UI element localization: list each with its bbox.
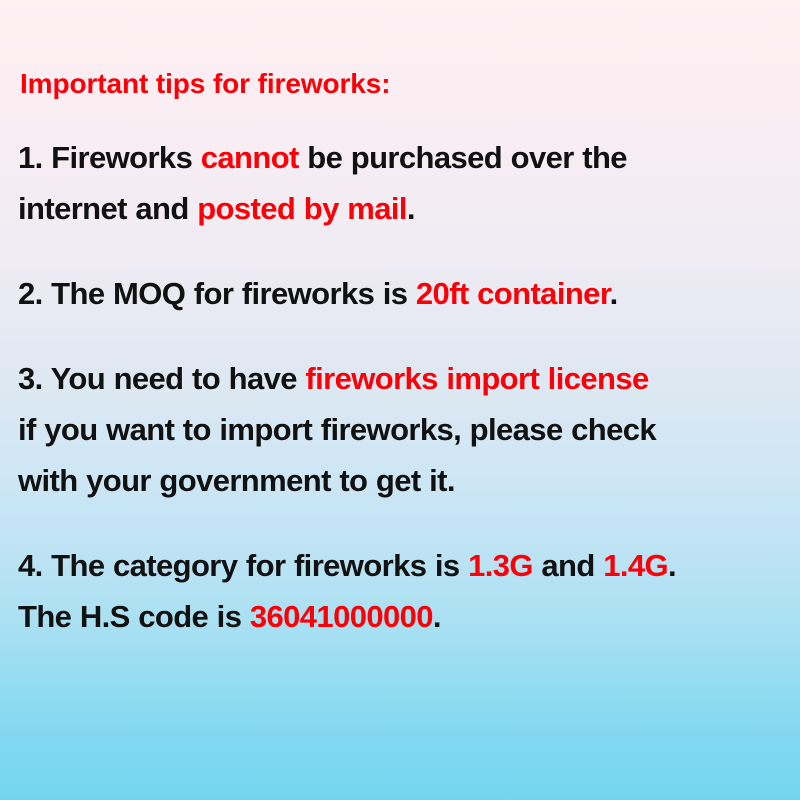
tip-text: . xyxy=(407,191,415,226)
tip-line: The H.S code is 36041000000. xyxy=(18,591,780,642)
tip-text: The H.S code is xyxy=(18,599,250,634)
tip-text: . xyxy=(433,599,441,634)
tip-text: with your government to get it. xyxy=(18,463,455,498)
tip-text: 2. The MOQ for fireworks is xyxy=(18,276,416,311)
tip-item: 1. Fireworks cannot be purchased over th… xyxy=(18,132,780,234)
tip-text: and xyxy=(533,548,603,583)
tip-text: if you want to import fireworks, please … xyxy=(18,412,656,447)
tip-line: with your government to get it. xyxy=(18,455,780,506)
highlighted-text: posted by mail xyxy=(197,191,407,226)
highlighted-text: 36041000000 xyxy=(250,599,433,634)
tip-text: 3. You need to have xyxy=(18,361,305,396)
tip-line: if you want to import fireworks, please … xyxy=(18,404,780,455)
tips-list: 1. Fireworks cannot be purchased over th… xyxy=(18,132,780,642)
tip-line: 4. The category for fireworks is 1.3G an… xyxy=(18,540,780,591)
tip-text: . xyxy=(610,276,618,311)
tip-text: . xyxy=(668,548,676,583)
highlighted-text: 1.4G xyxy=(603,548,668,583)
fireworks-tips-card: Important tips for fireworks: 1. Firewor… xyxy=(0,0,800,800)
tip-text: be purchased over the xyxy=(299,140,627,175)
tip-line: internet and posted by mail. xyxy=(18,183,780,234)
tip-text: internet and xyxy=(18,191,197,226)
tip-line: 1. Fireworks cannot be purchased over th… xyxy=(18,132,780,183)
highlighted-text: fireworks import license xyxy=(305,361,648,396)
tip-text: 1. Fireworks xyxy=(18,140,201,175)
tip-item: 2. The MOQ for fireworks is 20ft contain… xyxy=(18,268,780,319)
tip-line: 3. You need to have fireworks import lic… xyxy=(18,353,780,404)
highlighted-text: 1.3G xyxy=(468,548,533,583)
tips-content: Important tips for fireworks: 1. Firewor… xyxy=(18,64,780,642)
tip-item: 3. You need to have fireworks import lic… xyxy=(18,353,780,506)
tip-item: 4. The category for fireworks is 1.3G an… xyxy=(18,540,780,642)
page-title: Important tips for fireworks: xyxy=(20,64,780,104)
tip-line: 2. The MOQ for fireworks is 20ft contain… xyxy=(18,268,780,319)
tip-text: 4. The category for fireworks is xyxy=(18,548,468,583)
highlighted-text: 20ft container xyxy=(416,276,610,311)
highlighted-text: cannot xyxy=(201,140,299,175)
